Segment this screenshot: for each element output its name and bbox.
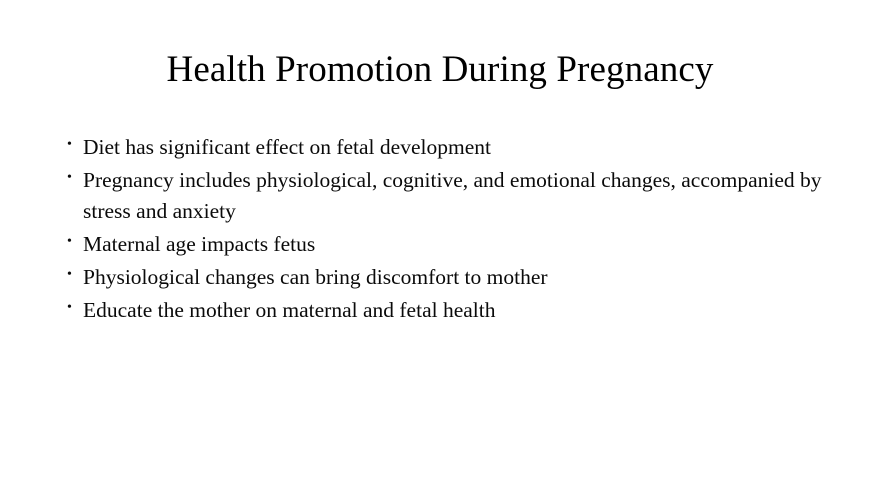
slide-canvas: Health Promotion During Pregnancy • Diet… — [0, 0, 880, 495]
bullet-dot-icon: • — [67, 165, 72, 191]
page-title: Health Promotion During Pregnancy — [0, 48, 880, 92]
list-item-label: Maternal age impacts fetus — [83, 229, 822, 260]
bullet-dot-icon: • — [67, 295, 72, 321]
list-item: • Pregnancy includes physiological, cogn… — [62, 165, 822, 227]
list-item: • Diet has significant effect on fetal d… — [62, 132, 822, 163]
list-item-label: Physiological changes can bring discomfo… — [83, 262, 822, 293]
bullet-dot-icon: • — [67, 132, 72, 158]
bullet-list: • Diet has significant effect on fetal d… — [62, 132, 822, 328]
list-item: • Maternal age impacts fetus — [62, 229, 822, 260]
bullet-dot-icon: • — [67, 262, 72, 288]
bullet-dot-icon: • — [67, 229, 72, 255]
list-item: • Educate the mother on maternal and fet… — [62, 295, 822, 326]
list-item-label: Pregnancy includes physiological, cognit… — [83, 165, 822, 227]
list-item: • Physiological changes can bring discom… — [62, 262, 822, 293]
list-item-label: Educate the mother on maternal and fetal… — [83, 295, 822, 326]
list-item-label: Diet has significant effect on fetal dev… — [83, 132, 822, 163]
